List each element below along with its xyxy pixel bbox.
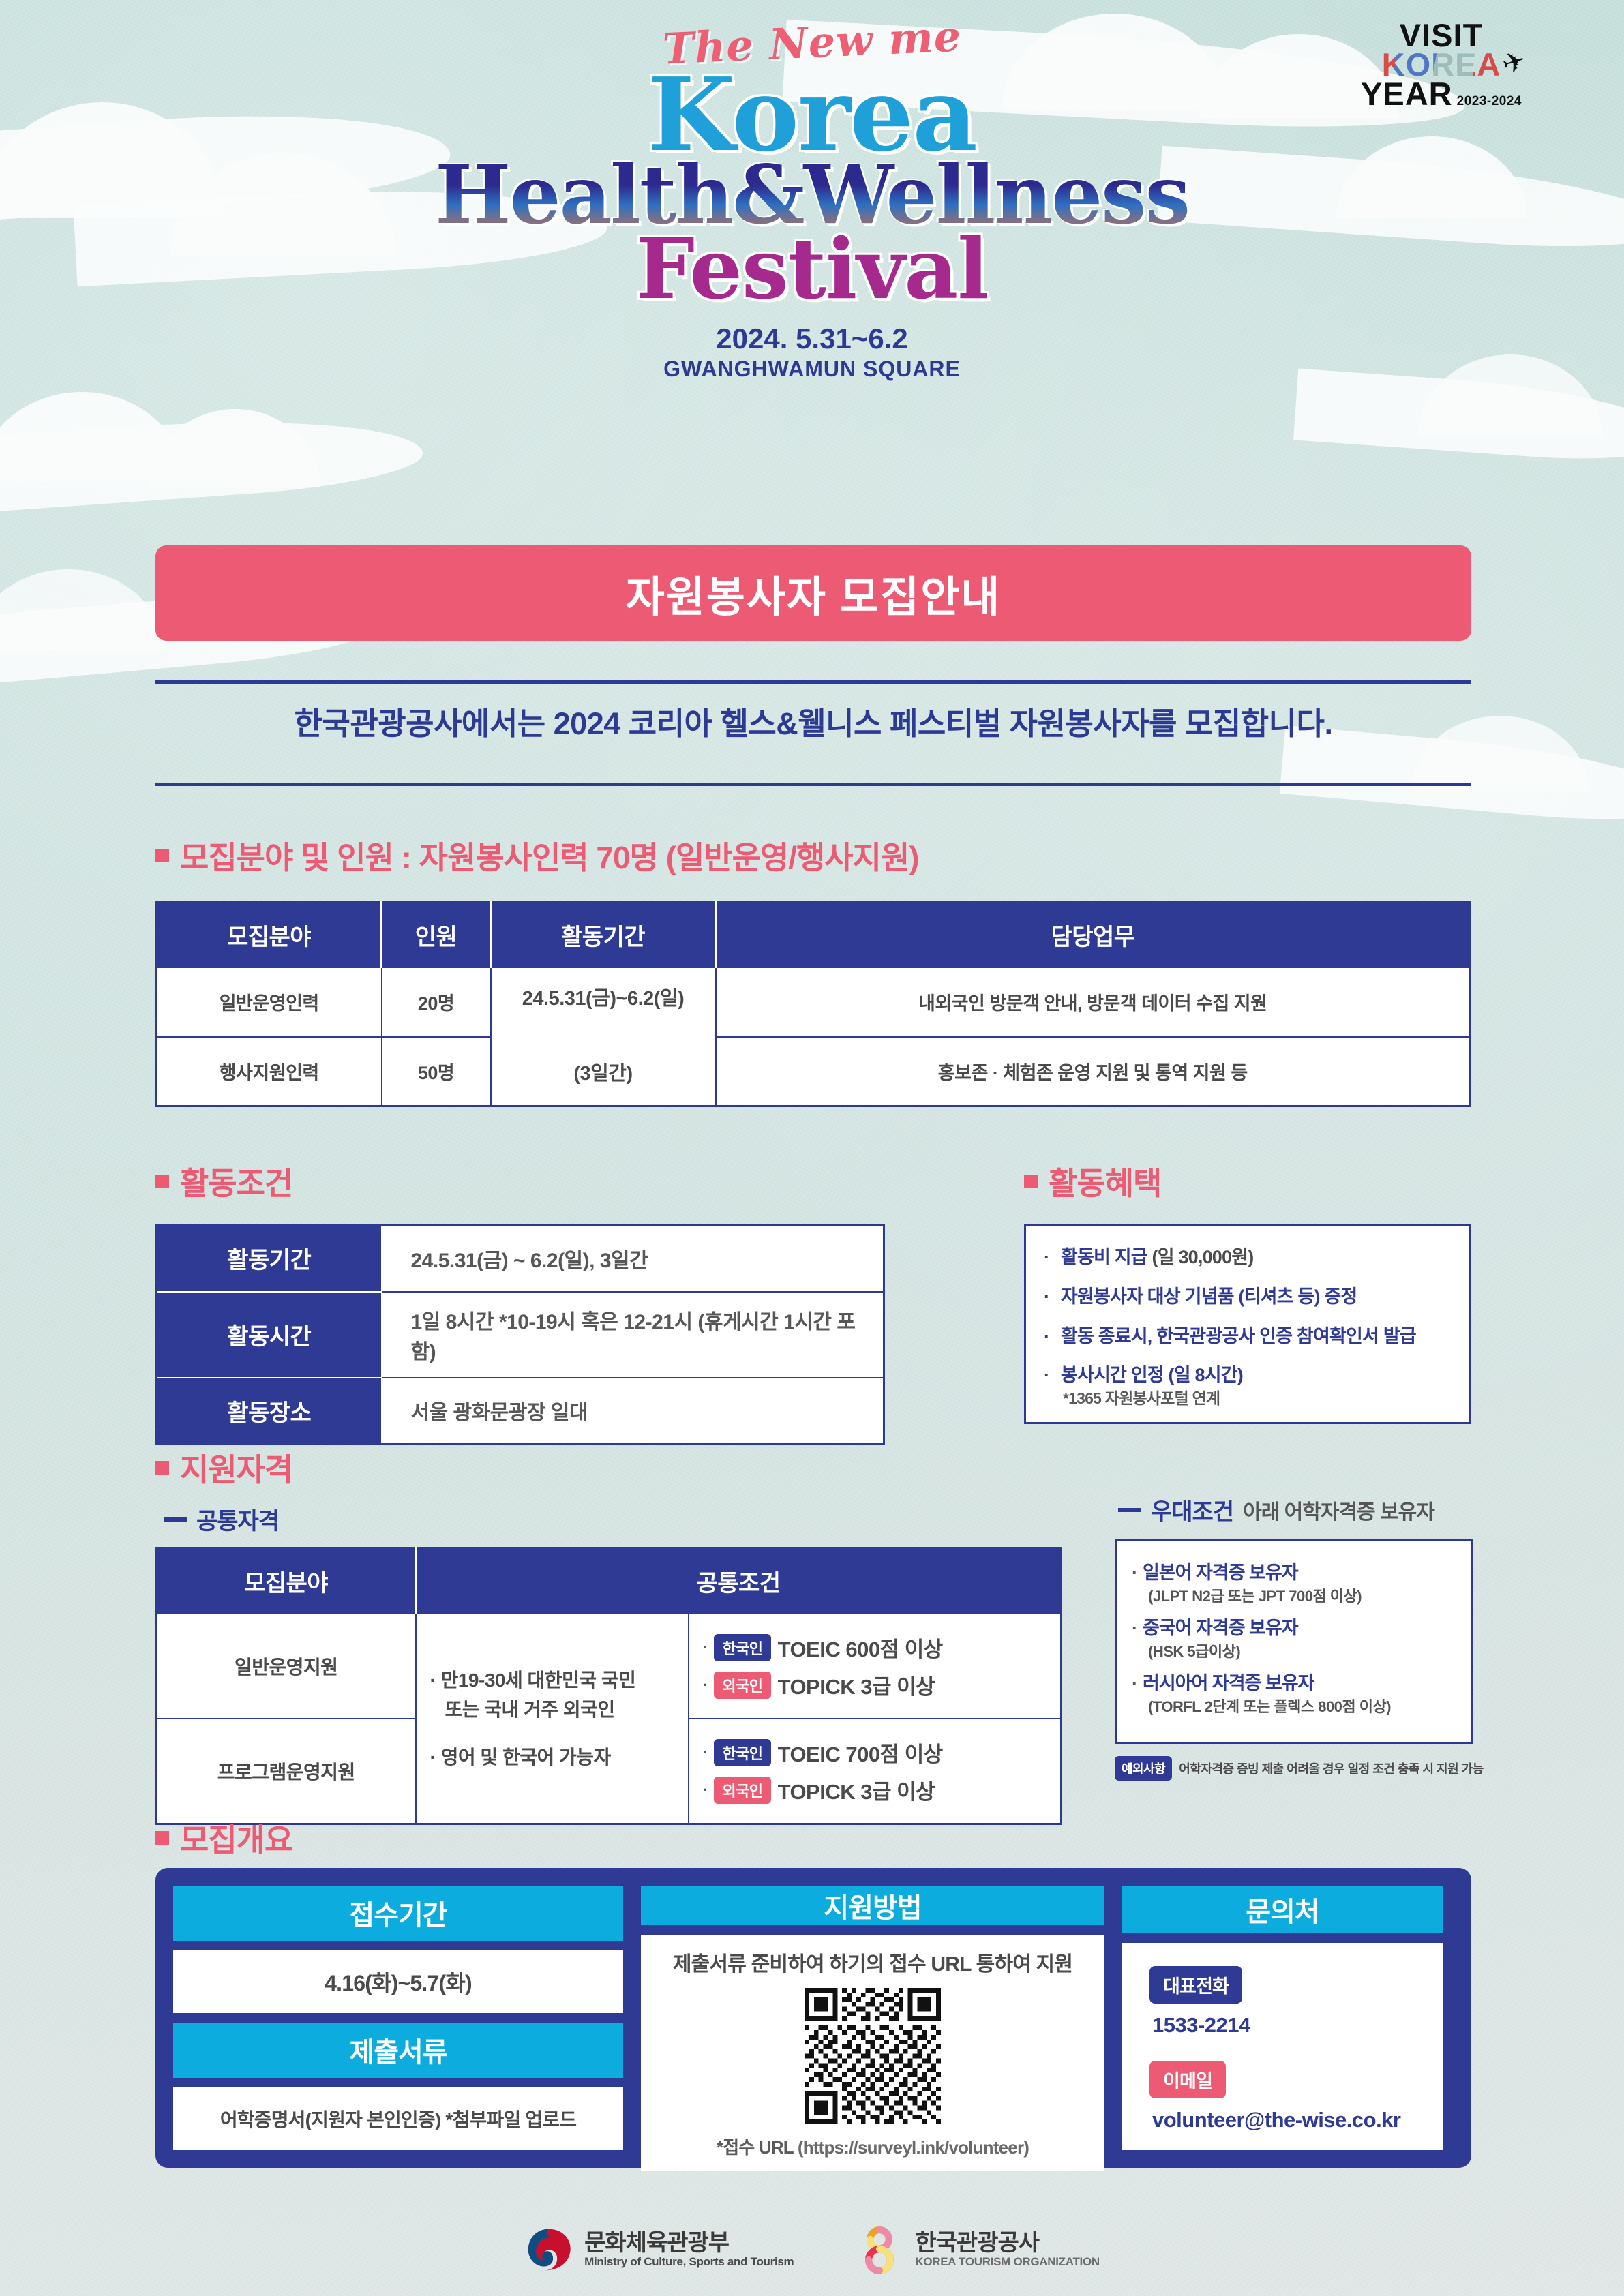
- section-heading-conditions-label: 활동조건: [180, 1159, 292, 1204]
- cell-duty-2: 홍보존 · 체험존 운영 지원 및 통역 지원 등: [716, 1037, 1471, 1106]
- dash-icon: [164, 1517, 187, 1522]
- benefit-item: · 활동비 지급 (일 30,000원): [1044, 1246, 1452, 1269]
- tag-korean: 한국인: [714, 1739, 770, 1766]
- cond-value-3: 서울 광화문광장 일대: [382, 1378, 884, 1445]
- logo-ministry-culture-sports-tourism: 문화체육관광부 Ministry of Culture, Sports and …: [524, 2225, 794, 2274]
- pref-sub-3: (TORFL 2단계 또는 플렉스 800점 이상): [1148, 1695, 1456, 1717]
- subheading-preferred-label: 우대조건: [1151, 1493, 1233, 1526]
- logo-text-group: 문화체육관광부 Ministry of Culture, Sports and …: [584, 2231, 794, 2269]
- table-row: 행사지원인력 50명 홍보존 · 체험존 운영 지원 및 통역 지원 등: [157, 1037, 1471, 1106]
- bullet-dot-icon: ·: [703, 1639, 708, 1657]
- period-line-1: 24.5.31(금)~6.2(일): [522, 988, 685, 1010]
- ministry-name-en: Ministry of Culture, Sports and Tourism: [584, 2256, 794, 2269]
- preferred-qualification-box: ·일본어 자격증 보유자 (JLPT N2급 또는 JPT 700점 이상) ·…: [1115, 1539, 1473, 1744]
- bullet-dot-icon: ·: [1044, 1326, 1049, 1346]
- vky-line-korea: KOREA: [1361, 50, 1522, 79]
- lang-requirement-row: · 한국인 TOEIC 600점 이상: [703, 1632, 1047, 1663]
- table-row: 활동시간 1일 8시간 *10-19시 혹은 12-21시 (휴게시간 1시간 …: [157, 1292, 884, 1378]
- benefit-item: · 자원봉사자 대상 기념품 (티셔츠 등) 증정: [1044, 1286, 1452, 1309]
- section-heading-benefits: 활동혜택: [1024, 1159, 1161, 1204]
- bullet-dot-icon: ·: [1044, 1286, 1049, 1307]
- common-bullet-1b: 또는 국내 거주 외국인: [430, 1695, 674, 1724]
- apply-period-header: 접수기간: [173, 1886, 623, 1941]
- footer-logos: 문화체육관광부 Ministry of Culture, Sports and …: [0, 2209, 1624, 2291]
- benefit-item: · 활동 종료시, 한국관광공사 인증 참여확인서 발급: [1044, 1325, 1452, 1348]
- preferred-list: ·일본어 자격증 보유자 (JLPT N2급 또는 JPT 700점 이상) ·…: [1132, 1558, 1456, 1717]
- benefit-light-1: (일 30,000원): [1152, 1247, 1254, 1267]
- subheading-common-label: 공통자격: [196, 1502, 279, 1536]
- tag-foreigner: 외국인: [714, 1777, 770, 1804]
- section-heading-benefits-label: 활동혜택: [1049, 1159, 1161, 1204]
- bullet-square-icon: [155, 1175, 169, 1188]
- section-heading-qualification: 지원자격: [155, 1445, 292, 1490]
- bullet-dot-icon: ·: [703, 1781, 708, 1799]
- benefit-main-3: 활동 종료시, 한국관광공사 인증 참여확인서 발급: [1061, 1326, 1416, 1346]
- table-header-row: 모집분야 인원 활동기간 담당업무: [157, 903, 1471, 968]
- qual-field-2: 프로그램운영지원: [157, 1719, 416, 1824]
- col-qual-field: 모집분야: [157, 1549, 416, 1614]
- logo-korea-tourism-organization: 한국관광공사 KOREA TOURISM ORGANIZATION: [855, 2225, 1100, 2274]
- phone-value[interactable]: 1533-2214: [1152, 2013, 1250, 2038]
- intro-rule-top: [155, 680, 1471, 684]
- lang-requirement-text: TOPICK 3급 이상: [778, 1774, 935, 1805]
- lang-requirement-text: TOPICK 3급 이상: [778, 1670, 935, 1700]
- qualification-table: 모집분야 공통조건 일반운영지원 · 만19-30세 대한민국 국민 또는 국내…: [155, 1547, 1062, 1825]
- overview-panel: 접수기간 4.16(화)~5.7(화) 제출서류 어학증명서(지원자 본인인증)…: [155, 1868, 1471, 2168]
- lang-requirement-text: TOEIC 600점 이상: [778, 1632, 943, 1663]
- benefit-main-4: 봉사시간 인정 (일 8시간): [1061, 1365, 1243, 1385]
- method-body: 제출서류 준비하여 하기의 접수 URL 통하여 지원: [641, 1935, 1104, 2171]
- table-row: 일반운영지원 · 만19-30세 대한민국 국민 또는 국내 거주 외국인 · …: [157, 1614, 1062, 1719]
- kto-knot-icon: [855, 2225, 904, 2274]
- benefit-main-2: 자원봉사자 대상 기념품 (티셔츠 등) 증정: [1061, 1286, 1357, 1307]
- contact-body: 대표전화 1533-2214 이메일 volunteer@the-wise.co…: [1122, 1943, 1443, 2150]
- qual-lang-cell-1: · 한국인 TOEIC 600점 이상 · 외국인 TOPICK 3급 이상: [689, 1614, 1062, 1719]
- col-field: 모집분야: [157, 903, 382, 968]
- cond-key-1: 활동기간: [157, 1225, 382, 1292]
- cond-key-3: 활동장소: [157, 1378, 382, 1445]
- qual-lang-cell-2: · 한국인 TOEIC 700점 이상 · 외국인 TOPICK 3급 이상: [689, 1719, 1062, 1824]
- phone-tag: 대표전화: [1149, 1966, 1242, 2004]
- bullet-dot-icon: ·: [1132, 1673, 1137, 1693]
- cell-field-2: 행사지원인력: [157, 1037, 382, 1106]
- qual-common-bullets: · 만19-30세 대한민국 국민 또는 국내 거주 외국인 · 영어 및 한국…: [416, 1614, 689, 1824]
- section-heading-conditions: 활동조건: [155, 1159, 292, 1204]
- bullet-dot-icon: ·: [703, 1676, 708, 1694]
- benefit-sub-4: *1365 자원봉사포털 연계: [1063, 1389, 1452, 1408]
- section-heading-overview: 모집개요: [155, 1815, 292, 1860]
- kto-name-kr: 한국관광공사: [915, 2231, 1100, 2256]
- intro-rule-bottom: [155, 783, 1471, 786]
- dash-icon: [1118, 1508, 1141, 1512]
- bullet-square-icon: [155, 1831, 169, 1845]
- recruitment-banner-label: 자원봉사자 모집안내: [626, 562, 1002, 624]
- bullet-square-icon: [155, 1461, 169, 1475]
- preferred-item: ·중국어 자격증 보유자 (HSK 5급이상): [1132, 1613, 1456, 1661]
- overview-col-method: 지원방법 제출서류 준비하여 하기의 접수 URL 통하여 지원: [641, 1886, 1104, 2150]
- bullet-square-icon: [155, 849, 169, 862]
- qr-url-value: (https://surveyl.ink/volunteer): [798, 2137, 1029, 2158]
- pref-main-1: ·일본어 자격증 보유자: [1132, 1562, 1298, 1583]
- method-header: 지원방법: [641, 1886, 1104, 1925]
- documents-header: 제출서류: [173, 2023, 623, 2078]
- section-heading-qualification-label: 지원자격: [180, 1445, 292, 1490]
- activity-conditions-table: 활동기간 24.5.31(금) ~ 6.2(일), 3일간 활동시간 1일 8시…: [155, 1224, 885, 1445]
- table-row: 일반운영인력 20명 24.5.31(금)~6.2(일) (3일간) 내외국인 …: [157, 967, 1471, 1037]
- overview-col-application: 접수기간 4.16(화)~5.7(화) 제출서류 어학증명서(지원자 본인인증)…: [173, 1886, 623, 2150]
- bullet-dot-icon: ·: [1044, 1247, 1049, 1267]
- qr-url-caption: *접수 URL (https://surveyl.ink/volunteer): [717, 2134, 1029, 2159]
- benefit-main-1: 활동비 지급: [1061, 1247, 1147, 1267]
- benefit-item: · 봉사시간 인정 (일 8시간) *1365 자원봉사포털 연계: [1044, 1364, 1452, 1408]
- overview-col-contact: 문의처 대표전화 1533-2214 이메일 volunteer@the-wis…: [1122, 1886, 1443, 2150]
- common-bullet-2: · 영어 및 한국어 가능자: [430, 1742, 674, 1772]
- benefits-box: · 활동비 지급 (일 30,000원) · 자원봉사자 대상 기념품 (티셔츠…: [1024, 1224, 1471, 1424]
- qr-url-label: *접수 URL: [717, 2137, 794, 2158]
- hero-section: VISIT KOREA YEAR2023-2024 ✈ The New me K…: [0, 0, 1624, 525]
- intro-text: 한국관광공사에서는 2024 코리아 헬스&웰니스 페스티벌 자원봉사자를 모집…: [155, 699, 1471, 743]
- bullet-dot-icon: ·: [1132, 1562, 1137, 1583]
- exception-text: 어학자격증 증빙 제출 어려울 경우 일정 조건 충족 시 지원 가능: [1179, 1759, 1484, 1777]
- vky-years: 2023-2024: [1457, 94, 1522, 108]
- lang-requirement-text: TOEIC 700점 이상: [778, 1737, 943, 1768]
- apply-period-value: 4.16(화)~5.7(화): [173, 1950, 623, 2013]
- documents-value: 어학증명서(지원자 본인인증) *첨부파일 업로드: [173, 2087, 623, 2150]
- email-value[interactable]: volunteer@the-wise.co.kr: [1152, 2108, 1401, 2132]
- tag-korean: 한국인: [714, 1634, 770, 1661]
- bullet-dot-icon: ·: [1044, 1365, 1049, 1385]
- cond-value-2: 1일 8시간 *10-19시 혹은 12-21시 (휴게시간 1시간 포함): [382, 1292, 884, 1378]
- recruitment-fields-table: 모집분야 인원 활동기간 담당업무 일반운영인력 20명 24.5.31(금)~…: [155, 901, 1471, 1107]
- lang-requirement-row: · 한국인 TOEIC 700점 이상: [703, 1737, 1047, 1768]
- qr-code-icon[interactable]: [805, 1988, 941, 2124]
- kto-name-en: KOREA TOURISM ORGANIZATION: [915, 2256, 1100, 2269]
- ministry-name-kr: 문화체육관광부: [584, 2231, 794, 2256]
- event-date: 2024. 5.31~6.2: [0, 322, 1624, 355]
- exception-note: 예외사항 어학자격증 증빙 제출 어려울 경우 일정 조건 충족 시 지원 가능: [1115, 1756, 1484, 1781]
- qual-field-1: 일반운영지원: [157, 1614, 416, 1719]
- cell-count-1: 20명: [382, 967, 491, 1037]
- pref-main-text-2: 중국어 자격증 보유자: [1143, 1618, 1298, 1638]
- pref-sub-2: (HSK 5급이상): [1148, 1640, 1456, 1661]
- bullet-square-icon: [1024, 1175, 1038, 1188]
- logo-text-group: 한국관광공사 KOREA TOURISM ORGANIZATION: [915, 2231, 1100, 2269]
- pref-main-3: ·러시아어 자격증 보유자: [1132, 1673, 1314, 1693]
- col-qual-common: 공통조건: [416, 1549, 1062, 1614]
- subheading-common-qualification: 공통자격: [164, 1502, 279, 1536]
- subheading-preferred-qualification: 우대조건 아래 어학자격증 보유자: [1118, 1493, 1434, 1526]
- benefits-list: · 활동비 지급 (일 30,000원) · 자원봉사자 대상 기념품 (티셔츠…: [1044, 1246, 1452, 1408]
- pref-main-text-3: 러시아어 자격증 보유자: [1143, 1673, 1314, 1693]
- pref-sub-1: (JLPT N2급 또는 JPT 700점 이상): [1148, 1584, 1456, 1606]
- period-line-2: (3일간): [573, 1063, 632, 1085]
- pref-main-text-1: 일본어 자격증 보유자: [1143, 1562, 1298, 1583]
- preferred-item: ·일본어 자격증 보유자 (JLPT N2급 또는 JPT 700점 이상): [1132, 1558, 1456, 1606]
- bullet-dot-icon: ·: [1132, 1618, 1137, 1638]
- cell-field-1: 일반운영인력: [157, 967, 382, 1037]
- section-heading-overview-label: 모집개요: [180, 1815, 292, 1860]
- vky-year-text: YEAR: [1361, 76, 1453, 112]
- cond-value-1: 24.5.31(금) ~ 6.2(일), 3일간: [382, 1225, 884, 1292]
- contact-header: 문의처: [1122, 1886, 1443, 1933]
- table-row: 활동장소 서울 광화문광장 일대: [157, 1378, 884, 1445]
- hero-title-health-wellness: Health&Wellness: [0, 154, 1624, 236]
- lang-requirement-row: · 외국인 TOPICK 3급 이상: [703, 1670, 1047, 1700]
- vky-line-year: YEAR2023-2024: [1361, 79, 1522, 108]
- recruitment-banner: 자원봉사자 모집안내: [155, 545, 1471, 641]
- lang-requirement-row: · 외국인 TOPICK 3급 이상: [703, 1774, 1047, 1805]
- col-duty: 담당업무: [716, 903, 1471, 968]
- table-header-row: 모집분야 공통조건: [157, 1549, 1062, 1614]
- cond-key-2: 활동시간: [157, 1292, 382, 1378]
- email-tag: 이메일: [1149, 2061, 1226, 2098]
- section-heading-fields: 모집분야 및 인원 : 자원봉사인력 70명 (일반운영/행사지원): [155, 833, 919, 878]
- col-period: 활동기간: [491, 903, 716, 968]
- tag-foreigner: 외국인: [714, 1672, 770, 1699]
- korea-government-taegeuk-icon: [524, 2225, 573, 2274]
- subheading-preferred-note: 아래 어학자격증 보유자: [1243, 1495, 1434, 1525]
- exception-tag: 예외사항: [1115, 1756, 1172, 1781]
- method-text: 제출서류 준비하여 하기의 접수 URL 통하여 지원: [673, 1947, 1072, 1977]
- cell-duty-1: 내외국인 방문객 안내, 방문객 데이터 수집 지원: [716, 967, 1471, 1037]
- preferred-item: ·러시아어 자격증 보유자 (TORFL 2단계 또는 플렉스 800점 이상): [1132, 1668, 1456, 1717]
- table-row: 활동기간 24.5.31(금) ~ 6.2(일), 3일간: [157, 1225, 884, 1292]
- pref-main-2: ·중국어 자격증 보유자: [1132, 1618, 1298, 1638]
- section-heading-fields-label: 모집분야 및 인원 : 자원봉사인력 70명 (일반운영/행사지원): [180, 833, 919, 878]
- cell-count-2: 50명: [382, 1037, 491, 1106]
- col-count: 인원: [382, 903, 491, 968]
- event-venue: GWANGHWAMUN SQUARE: [0, 357, 1624, 382]
- common-bullet-1: · 만19-30세 대한민국 국민: [430, 1665, 674, 1695]
- bullet-dot-icon: ·: [703, 1744, 708, 1762]
- cell-period-merged: 24.5.31(금)~6.2(일) (3일간): [491, 967, 716, 1106]
